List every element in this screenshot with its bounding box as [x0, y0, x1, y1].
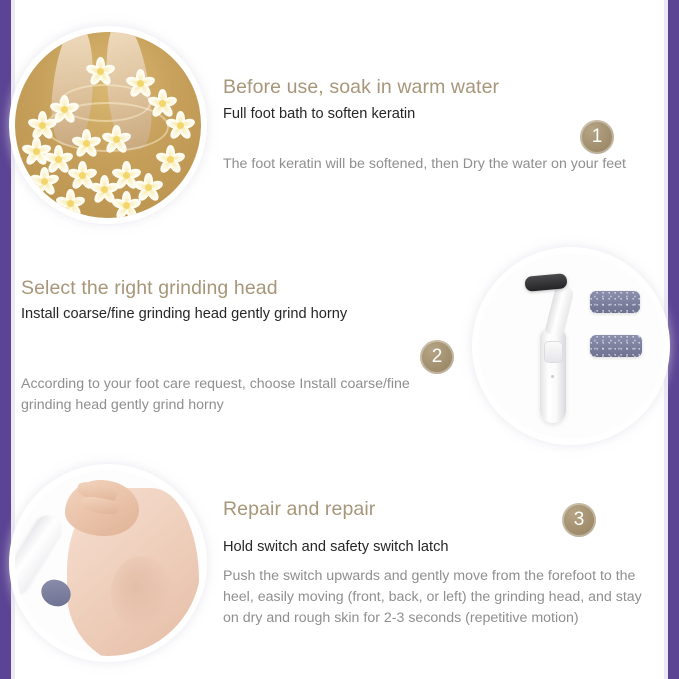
step-2-text: Select the right grinding head Install c…: [15, 276, 478, 416]
device-indicator-dot: [551, 375, 554, 378]
step-2-subtitle: Install coarse/fine grinding head gently…: [21, 304, 420, 324]
coarse-roller-head: [590, 291, 640, 313]
step-3-text: Repair and repair 3 Hold switch and safe…: [201, 497, 664, 628]
frangipani-flower: [155, 144, 185, 174]
step-2-heading: Select the right grinding head: [21, 276, 460, 300]
device-switch: [544, 341, 563, 363]
instruction-infographic: Before use, soak in warm water Full foot…: [0, 0, 679, 679]
frangipani-flower: [71, 128, 101, 158]
right-border-inner: [664, 0, 668, 679]
steps-container: Before use, soak in warm water Full foot…: [15, 0, 664, 679]
step-1-subtitle-row: Full foot bath to soften keratin 1: [223, 104, 658, 154]
step-3-heading: Repair and repair: [223, 497, 375, 521]
step-1-text: Before use, soak in warm water Full foot…: [201, 75, 664, 174]
frangipani-flower: [55, 188, 85, 218]
device-on-heel-photo: [15, 470, 201, 656]
step-2-number-badge: 2: [420, 340, 454, 374]
step-2-image-wrap: [478, 253, 664, 439]
frangipani-flower: [49, 94, 79, 124]
frangipani-flower: [101, 124, 131, 154]
step-2-subtitle-row: Install coarse/fine grinding head gently…: [21, 304, 460, 374]
fine-roller-head: [590, 335, 642, 357]
step-1-body: The foot keratin will be softened, then …: [223, 154, 658, 175]
left-border-band: [0, 0, 11, 679]
right-border-band: [668, 0, 679, 679]
device-heads-photo: [478, 253, 664, 439]
step-1-heading: Before use, soak in warm water: [223, 75, 658, 99]
step-1-image-wrap: [15, 32, 201, 218]
step-row-1: Before use, soak in warm water Full foot…: [15, 14, 664, 236]
step-1-number-badge: 1: [580, 120, 614, 154]
step-3-image-wrap: [15, 470, 201, 656]
footbath-photo: [15, 32, 201, 218]
step-2-body: According to your foot care request, cho…: [21, 374, 460, 415]
heel-shading: [111, 556, 173, 630]
step-3-subtitle: Hold switch and safety switch latch: [223, 537, 658, 557]
step-3-heading-row: Repair and repair 3: [223, 497, 658, 537]
step-3-body: Push the switch upwards and gently move …: [223, 566, 658, 628]
step-row-2: Select the right grinding head Install c…: [15, 240, 664, 452]
step-3-number-badge: 3: [562, 503, 596, 537]
frangipani-flower: [85, 56, 115, 86]
frangipani-flower: [125, 68, 155, 98]
step-1-subtitle: Full foot bath to soften keratin: [223, 104, 580, 124]
step-row-3: Repair and repair 3 Hold switch and safe…: [15, 452, 664, 674]
frangipani-flower: [111, 190, 141, 218]
